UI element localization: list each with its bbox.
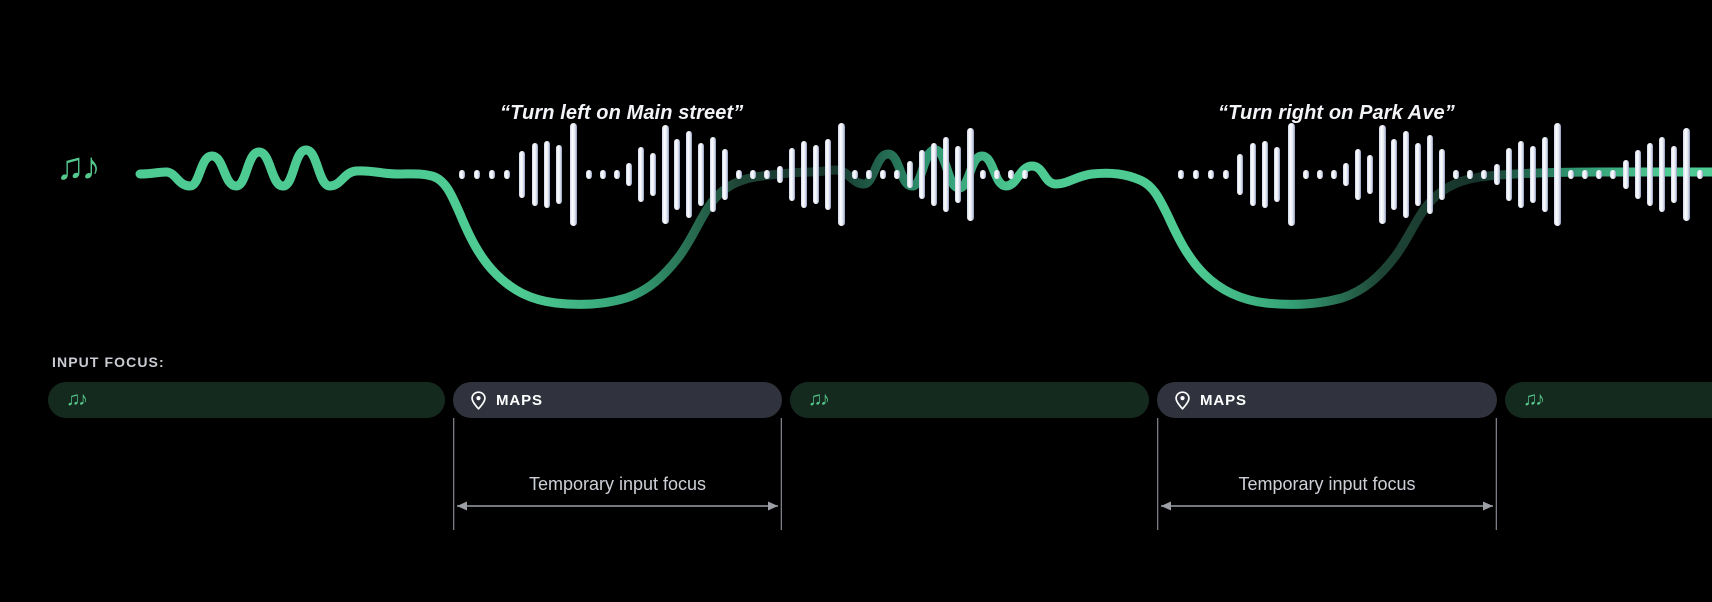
map-pin-icon xyxy=(470,391,487,410)
focus-segment-maps-1: MAPS Temporary input focus xyxy=(453,382,782,602)
audio-stream-line xyxy=(140,150,1712,304)
temporary-focus-bracket-1: Temporary input focus xyxy=(453,418,782,530)
focus-pill-music-3[interactable]: ♫♪ xyxy=(1505,382,1712,418)
map-pin-icon xyxy=(1174,391,1191,410)
speech-bars-group-1 xyxy=(459,123,1028,226)
waveform-canvas xyxy=(0,0,1712,340)
focus-pill-maps-2-label: MAPS xyxy=(1200,392,1247,409)
voice-prompt-caption-2: “Turn right on Park Ave” xyxy=(1218,102,1455,125)
focus-segment-music-3: ♫♪ xyxy=(1505,382,1712,602)
focus-pill-maps-1-label: MAPS xyxy=(496,392,543,409)
music-notes-icon: ♫♪ xyxy=(66,390,86,409)
voice-focus-diagram: ♫♪ “Turn left on Main street” “Turn righ… xyxy=(0,0,1712,602)
waveform-area: ♫♪ “Turn left on Main street” “Turn righ… xyxy=(0,0,1712,340)
focus-segment-maps-2: MAPS Temporary input focus xyxy=(1157,382,1497,602)
speech-bars-group-2 xyxy=(1178,123,1703,226)
temporary-focus-label-1: Temporary input focus xyxy=(453,474,782,495)
input-focus-caption: INPUT FOCUS: xyxy=(52,354,165,370)
focus-pill-maps-1[interactable]: MAPS xyxy=(453,382,782,418)
voice-prompt-caption-1: “Turn left on Main street” xyxy=(500,102,743,125)
focus-pill-music-1[interactable]: ♫♪ xyxy=(48,382,445,418)
music-notes-icon: ♫♪ xyxy=(56,148,98,186)
music-notes-icon: ♫♪ xyxy=(1523,390,1543,409)
focus-segment-music-2: ♫♪ xyxy=(790,382,1149,602)
focus-pill-music-2[interactable]: ♫♪ xyxy=(790,382,1149,418)
music-notes-icon: ♫♪ xyxy=(808,390,828,409)
focus-segment-music-1: ♫♪ xyxy=(48,382,445,602)
input-focus-panel: INPUT FOCUS: ♫♪ MAPS xyxy=(0,344,1712,602)
focus-pill-maps-2[interactable]: MAPS xyxy=(1157,382,1497,418)
temporary-focus-bracket-2: Temporary input focus xyxy=(1157,418,1497,530)
focus-timeline-track: ♫♪ MAPS xyxy=(0,382,1712,602)
temporary-focus-label-2: Temporary input focus xyxy=(1157,474,1497,495)
